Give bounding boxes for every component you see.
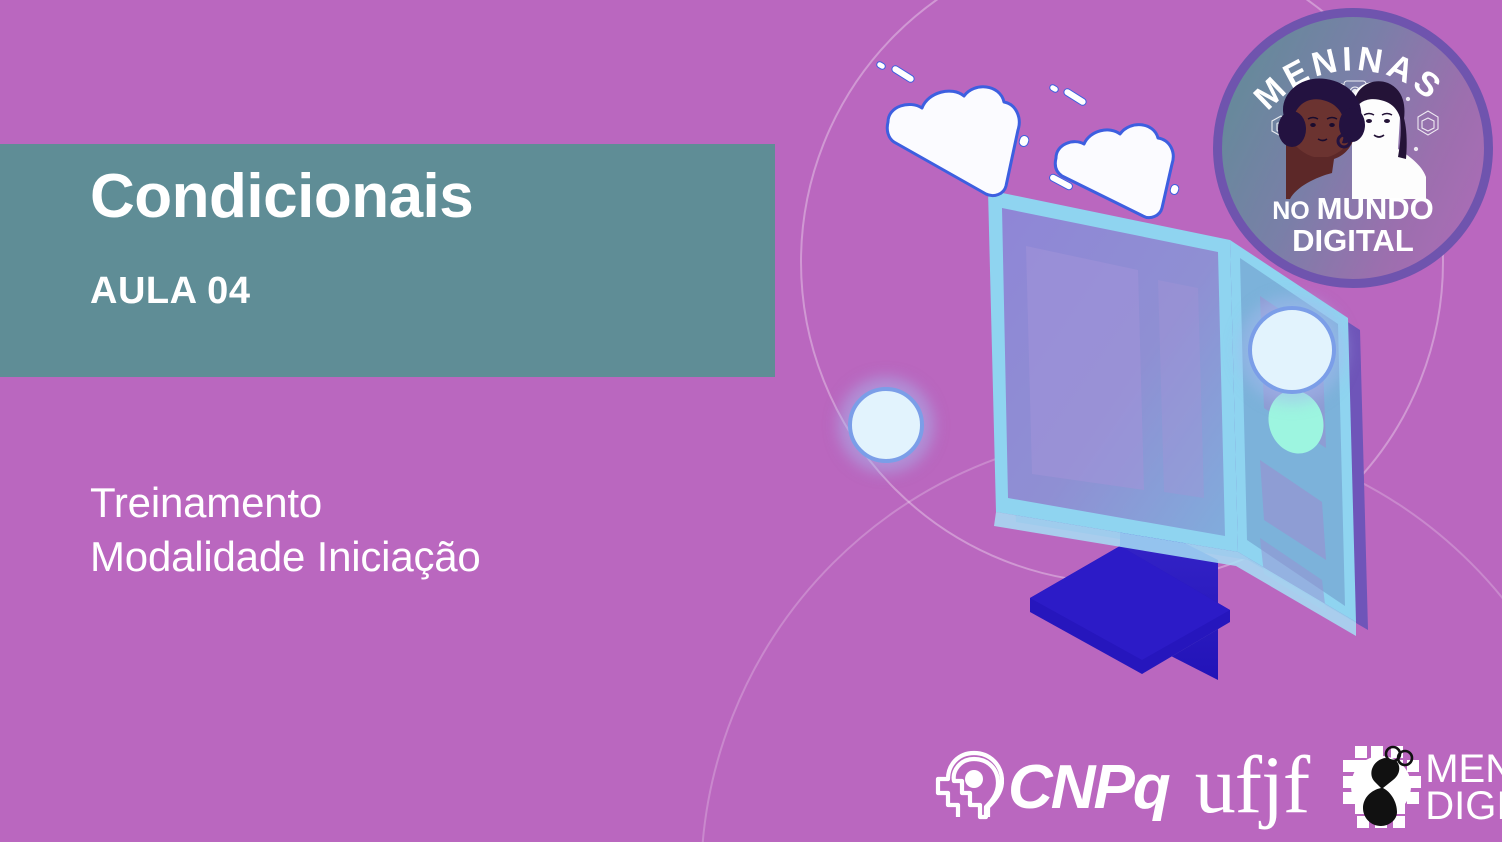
footer-logos: CNPq ufjf [930, 740, 1502, 836]
dash-accent-icon [1062, 87, 1088, 108]
logo-cnpq-label: CNPq [1008, 757, 1169, 819]
dash-accent-icon [1048, 83, 1060, 94]
logo-md-line-1: MENINAS [1425, 751, 1502, 788]
logo-meninas-digitais-label: MENINAS DIGITAIS [1425, 751, 1502, 825]
glow-dot-right-icon [1248, 306, 1336, 394]
logo-meninas-digitais: MENINAS DIGITAIS [1339, 742, 1502, 835]
glow-dot-left-icon [848, 387, 924, 463]
cnpq-head-icon [930, 749, 1004, 828]
cloud-right-icon [1050, 108, 1206, 225]
title-band: Condicionais AULA 04 [0, 144, 775, 377]
badge-line-1-small: NO [1272, 197, 1316, 225]
subtitle-line-1: Treinamento [90, 476, 730, 530]
logo-md-line-2: DIGITAIS [1425, 788, 1502, 825]
dash-accent-icon [890, 64, 916, 85]
badge-line-1: NO MUNDO [1222, 193, 1484, 225]
meninas-digitais-pixel-icon [1339, 742, 1427, 835]
badge-bottom-text: NO MUNDO DIGITAL [1222, 193, 1484, 256]
subtitle-line-2: Modalidade Iniciação [90, 530, 730, 584]
page-title: Condicionais [90, 166, 473, 228]
dash-accent-icon [1169, 183, 1181, 196]
badge-line-1-large: MUNDO [1317, 191, 1434, 226]
slide-root: Condicionais AULA 04 Treinamento Modalid… [0, 0, 1502, 842]
meninas-no-mundo-digital-badge: MENINAS [1213, 8, 1493, 288]
subtitle-block: Treinamento Modalidade Iniciação [90, 476, 730, 584]
dash-accent-icon [1017, 134, 1030, 149]
lesson-number-label: AULA 04 [90, 272, 250, 310]
logo-ufjf-label: ufjf [1195, 744, 1309, 826]
dash-accent-icon [875, 60, 887, 71]
two-women-illustration [1256, 73, 1452, 199]
cloud-left-icon [880, 78, 1052, 203]
badge-line-2: DIGITAL [1222, 225, 1484, 257]
dash-accent-icon [1048, 172, 1075, 191]
logo-cnpq: CNPq [930, 749, 1169, 828]
